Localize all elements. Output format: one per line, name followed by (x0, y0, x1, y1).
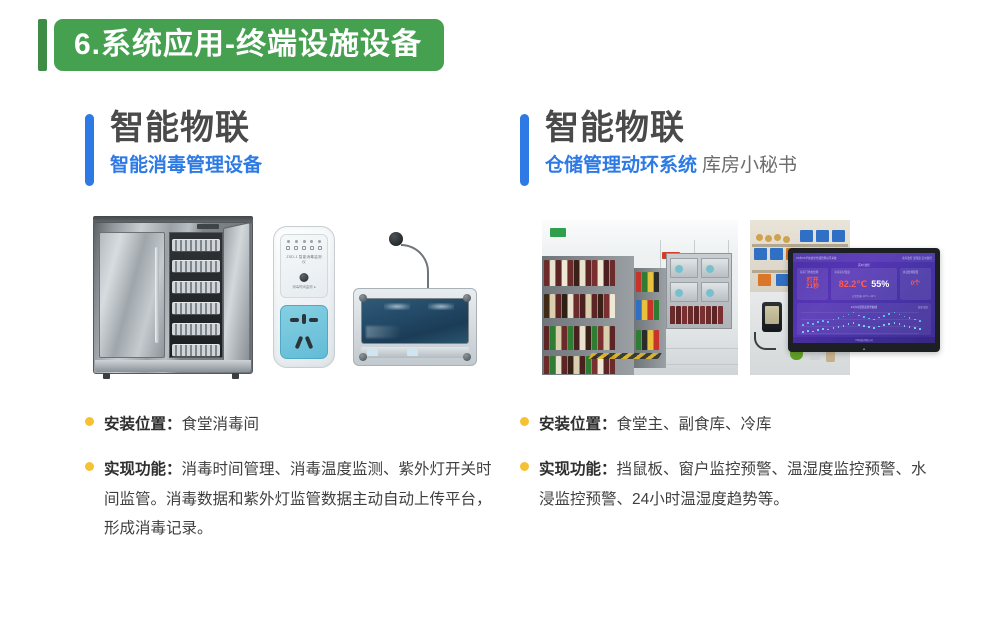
bullet-dot-icon (520, 417, 529, 426)
chart-data-point (822, 328, 824, 330)
chart-data-point (873, 327, 875, 329)
storage-basket (770, 248, 783, 260)
card-footer: 正常范围 -18℃~-22℃ (852, 294, 876, 298)
bottle-row (544, 260, 632, 286)
status-led (287, 240, 290, 243)
bullet-text: 食堂主、副食库、冷库 (617, 416, 772, 433)
produce-item (783, 236, 790, 243)
chart-data-point (838, 326, 840, 328)
cabinet-open-door (223, 222, 250, 368)
card-water-alarm: 水浸监测报警 0个 (900, 268, 931, 300)
chart-data-point (802, 331, 804, 333)
bottle-row (544, 294, 632, 318)
slide-root: 6.系统应用-终端设施设备 智能物联 智能消毒管理设备 (0, 0, 1000, 619)
column-right: 智能物联 仓储管理动环系统库房小秘书 (520, 110, 940, 530)
card-header: 水浸监测报警 (903, 270, 919, 274)
chart-data-point (843, 316, 845, 318)
corner-screw (359, 294, 367, 302)
uv-lamp (428, 303, 454, 310)
cold-unit (670, 258, 698, 278)
column-left-subtitle: 智能消毒管理设备 (110, 155, 495, 178)
page-title: 6.系统应用-终端设施设备 (74, 30, 422, 60)
storage-basket (832, 230, 845, 242)
storage-basket (754, 248, 767, 260)
warehouse-photo (542, 220, 738, 375)
chart-data-point (878, 326, 880, 328)
column-left-subtitle-main: 智能消毒管理设备 (110, 155, 262, 176)
card-header: 冷库实时温度 (834, 270, 850, 274)
socket-model-label: ZSD-1 智能消毒监测仪 (285, 255, 323, 266)
chart-data-point (838, 317, 840, 319)
cabinet-interior (169, 232, 223, 358)
chart-data-point (904, 316, 906, 318)
chart-data-point (802, 324, 804, 326)
bullet-label: 安装位置： (104, 416, 182, 433)
bullet-label: 实现功能： (539, 461, 617, 478)
dashboard-cards: 库房门状态监测 打开 21秒 冷库实时温度 82.2℃ 55% 正常范围 -18… (797, 268, 931, 300)
chart-data-point (833, 327, 835, 329)
column-right-subtitle: 仓储管理动环系统库房小秘书 (545, 155, 940, 178)
sensor-screen (765, 306, 779, 324)
device-group: ZSD-1 智能消毒监测仪 消毒时间监测 ● (85, 214, 495, 384)
storage-basket (758, 274, 771, 286)
column-left-photo-band: ZSD-1 智能消毒监测仪 消毒时间监测 ● (85, 214, 495, 384)
chart-data-point (827, 321, 829, 323)
wifi-icon (294, 246, 298, 250)
chart-data-point (899, 323, 901, 325)
uv-sterilizer-box-image (353, 232, 477, 368)
chart-data-point (822, 320, 824, 322)
chart-data-point (812, 331, 814, 333)
bullet-dot-icon (85, 462, 94, 471)
uv-lamp-icon (310, 246, 314, 250)
chart-data-point (863, 325, 865, 327)
clock-icon (318, 246, 322, 250)
card-value-humidity: 55% (871, 280, 889, 289)
chart-data-point (914, 319, 916, 321)
chart-data-point (904, 325, 906, 327)
card-value-water: 0个 (911, 281, 920, 287)
corner-screw (463, 353, 471, 361)
chart-data-point (873, 319, 875, 321)
chart-data-point (853, 312, 855, 314)
column-right-title: 智能物联 (545, 110, 940, 147)
outlet-pin (290, 318, 299, 322)
column-right-bullets: 安装位置：食堂主、副食库、冷库 实现功能：挡鼠板、窗户监控预警、温湿度监控预警、… (520, 410, 940, 514)
smart-socket-image: ZSD-1 智能消毒监测仪 消毒时间监测 ● (273, 226, 335, 368)
bullet-dot-icon (520, 462, 529, 471)
bullet-label: 安装位置： (539, 416, 617, 433)
header-pill: 6.系统应用-终端设施设备 (54, 19, 444, 71)
uv-indicator (407, 349, 418, 356)
chart-data-point (807, 322, 809, 324)
chart-data-point (858, 315, 860, 317)
heading-accent-bar (520, 114, 529, 186)
chart-data-point (817, 321, 819, 323)
column-left-title: 智能物联 (110, 110, 495, 147)
bullet-text: 食堂消毒间 (182, 416, 260, 433)
wooden-shelf (752, 244, 848, 247)
header-accent-bar (38, 19, 47, 71)
chart-data-point (858, 324, 860, 326)
cabinet-door-handle (155, 247, 159, 343)
uv-window-glint (366, 326, 400, 338)
cabinet-closed-door (99, 232, 165, 358)
sensor-display-device (762, 302, 782, 332)
exit-sign-icon (550, 228, 566, 237)
chart-data-point (919, 320, 921, 322)
card-value-temperature: 82.2℃ (839, 280, 867, 289)
cabinet-foot (232, 373, 239, 379)
bullet-item: 实现功能：消毒时间管理、消毒温度监测、紫外灯开关时间监管。消毒数据和紫外灯监管数… (85, 455, 495, 543)
card-value-line2: 21秒 (806, 284, 819, 290)
chart-data-point (914, 327, 916, 329)
cabinet-foot (103, 373, 110, 379)
column-right-heading: 智能物联 仓储管理动环系统库房小秘书 (520, 110, 940, 202)
outlet-pin (309, 318, 318, 322)
bottle-row (670, 306, 730, 324)
dashboard-subtitle: 实时 监控 (793, 263, 935, 267)
produce-item (774, 234, 781, 241)
socket-note-1: 消毒时间监测 ● (287, 285, 321, 290)
bullet-item: 实现功能：挡鼠板、窗户监控预警、温湿度监控预警、水浸监控预警、24小时温湿度趋势… (520, 455, 940, 514)
socket-power-button[interactable] (300, 273, 309, 282)
dashboard-trend-chart: 24小时温湿度趋势曲线 温度/湿度 (797, 303, 931, 335)
disinfection-cabinet-image (93, 222, 253, 374)
chart-data-point (827, 329, 829, 331)
card-door-status: 库房门状态监测 打开 21秒 (797, 268, 828, 300)
card-header: 库房门状态监测 (800, 270, 818, 274)
produce-item (765, 235, 772, 242)
chart-series-points (802, 310, 919, 332)
chart-data-point (894, 322, 896, 324)
dashboard-topbar: XX市XX学校食堂仓储管理动环系统 冷库监控 温湿度 实时监控 (793, 253, 935, 262)
storage-basket (800, 230, 813, 242)
chart-data-point (848, 323, 850, 325)
hazard-floor-marking (588, 353, 661, 359)
cabinet-shelf (172, 302, 220, 315)
chart-data-point (868, 318, 870, 320)
column-right-subtitle-main: 仓储管理动环系统 (545, 155, 697, 176)
chart-data-point (817, 329, 819, 331)
bottle-row (544, 326, 632, 350)
power-icon (286, 246, 290, 250)
chart-data-point (853, 322, 855, 324)
outlet-pin (305, 336, 314, 350)
cabinet-shelf (172, 281, 220, 294)
dashboard-footer: XX科技有限公司 (793, 337, 935, 343)
bullet-item: 安装位置：食堂消毒间 (85, 410, 495, 439)
status-led (318, 240, 321, 243)
section-header: 6.系统应用-终端设施设备 (38, 19, 444, 71)
chart-data-point (863, 316, 865, 318)
cold-unit (701, 282, 729, 302)
chart-data-point (848, 314, 850, 316)
uv-box-window (361, 298, 469, 344)
bottle-row (636, 330, 664, 350)
bullet-item: 安装位置：食堂主、副食库、冷库 (520, 410, 940, 439)
chart-data-point (899, 314, 901, 316)
socket-outlet-face (280, 305, 328, 359)
bullet-dot-icon (85, 417, 94, 426)
photo-group: XX市XX学校食堂仓储管理动环系统 冷库监控 温湿度 实时监控 实时 监控 库房… (520, 214, 940, 384)
socket-control-panel: ZSD-1 智能消毒监测仪 消毒时间监测 ● (280, 234, 328, 298)
chart-data-point (888, 313, 890, 315)
dashboard-monitor: XX市XX学校食堂仓储管理动环系统 冷库监控 温湿度 实时监控 实时 监控 库房… (788, 248, 940, 352)
column-right-photo-band: XX市XX学校食堂仓储管理动环系统 冷库监控 温湿度 实时监控 实时 监控 库房… (520, 214, 940, 384)
dashboard-topbar-left: XX市XX学校食堂仓储管理动环系统 (796, 256, 837, 260)
cabinet-shelf (172, 239, 220, 252)
cold-unit (670, 282, 698, 302)
chart-data-point (843, 325, 845, 327)
chart-data-point (812, 323, 814, 325)
cabinet-base (95, 360, 251, 372)
bottle-row (636, 300, 664, 320)
status-led (303, 240, 306, 243)
chart-data-point (888, 323, 890, 325)
status-led (295, 240, 298, 243)
corner-screw (463, 294, 471, 302)
bullet-label: 实现功能： (104, 461, 182, 478)
chart-data-point (868, 326, 870, 328)
cabinet-control-panel (197, 224, 219, 229)
uv-box-body (353, 288, 477, 366)
produce-item (756, 234, 763, 241)
ceiling (542, 220, 738, 254)
column-left-heading: 智能物联 智能消毒管理设备 (85, 110, 495, 202)
socket-glyph-row (286, 246, 322, 250)
chart-legend: 温度/湿度 (918, 305, 928, 309)
uv-indicator (367, 349, 378, 356)
outlet-pin (295, 336, 304, 350)
storage-basket (816, 230, 829, 242)
chart-data-point (883, 315, 885, 317)
chart-data-point (883, 324, 885, 326)
chart-data-point (909, 317, 911, 319)
uv-box-strip (361, 347, 469, 358)
floor-line (662, 348, 738, 349)
column-left: 智能物联 智能消毒管理设备 (85, 110, 495, 560)
cabinet-shelf (172, 344, 220, 357)
heading-accent-bar (85, 114, 94, 186)
sensor-cable (754, 332, 776, 350)
chart-data-point (833, 319, 835, 321)
chart-title: 24小时温湿度趋势曲线 (797, 305, 931, 309)
uv-lamp (384, 303, 410, 310)
monitor-brand-label: ◆ (788, 347, 940, 351)
dashboard-topbar-right: 冷库监控 温湿度 实时监控 (902, 256, 932, 260)
cabinet-shelf (172, 323, 220, 336)
chart-data-point (878, 317, 880, 319)
column-right-subtitle-extra: 库房小秘书 (702, 155, 797, 176)
socket-led-row (287, 240, 321, 243)
chart-data-point (919, 328, 921, 330)
cabinet-shelf (172, 260, 220, 273)
column-left-bullets: 安装位置：食堂消毒间 实现功能：消毒时间管理、消毒温度监测、紫外灯开关时间监管。… (85, 410, 495, 544)
card-temp-humidity: 冷库实时温度 82.2℃ 55% 正常范围 -18℃~-22℃ (831, 268, 897, 300)
status-led (310, 240, 313, 243)
cold-unit (701, 258, 729, 278)
chart-data-point (894, 312, 896, 314)
dashboard-screen: XX市XX学校食堂仓储管理动环系统 冷库监控 温湿度 实时监控 实时 监控 库房… (793, 253, 935, 343)
cold-storage-rack (666, 253, 732, 329)
bottle-row (636, 272, 664, 292)
thermometer-icon (302, 246, 306, 250)
antenna-wire (401, 244, 429, 292)
chart-data-point (909, 326, 911, 328)
outlet-pin (302, 314, 306, 324)
corner-screw (359, 353, 367, 361)
chart-gridline (801, 333, 919, 334)
chart-data-point (807, 330, 809, 332)
